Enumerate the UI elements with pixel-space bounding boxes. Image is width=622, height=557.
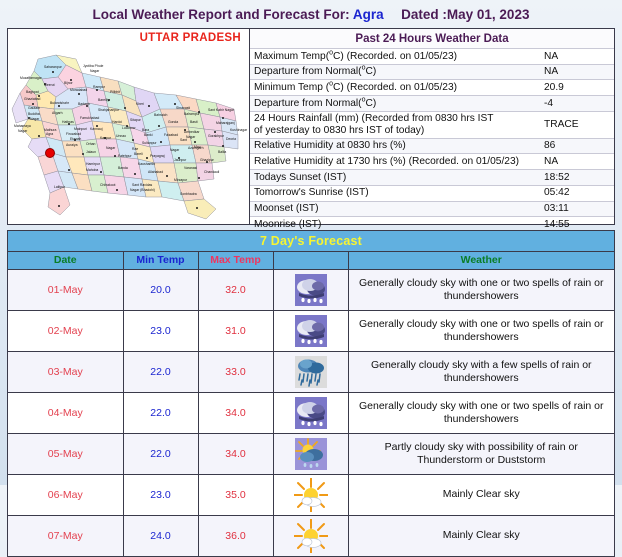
map-label: Rampur — [93, 86, 105, 89]
column-header-date: Date — [8, 252, 123, 270]
past-24-row: Departure from Normal(oC)-4 — [250, 96, 614, 112]
past-24-label: Departure from Normal(oC) — [250, 64, 532, 80]
map-state-label: UTTAR PRADESH — [140, 32, 241, 44]
map-label: Hathras — [62, 121, 74, 124]
forecast-min-temp: 22.0 — [123, 434, 198, 475]
map-label: Bareilly — [98, 99, 109, 102]
forecast-min-temp: 24.0 — [123, 516, 198, 557]
map-label: Orhan — [86, 143, 95, 146]
map-label: Firozabad — [66, 133, 81, 136]
map-label: Nagar — [18, 130, 27, 133]
map-label: Mainpuri — [74, 128, 87, 131]
forecast-min-temp: 20.0 — [123, 270, 198, 311]
forecast-row: 01-May20.032.0 Generally cloudy sky with… — [8, 270, 614, 311]
forecast-date: 06-May — [8, 475, 123, 516]
map-label: Jalaun — [86, 151, 96, 154]
past-24-row: Minimum Temp (oC) (Recorded. on 01/05/23… — [250, 80, 614, 96]
map-label: Aligarh — [52, 112, 63, 115]
state-map: UTTAR PRADESH — [8, 29, 250, 224]
map-label: Banda — [118, 167, 128, 170]
map-label: Sultanpur — [142, 142, 157, 145]
map-label: Basti — [190, 121, 198, 124]
forecast-description: Partly cloudy sky with possibility of ra… — [348, 434, 614, 475]
map-label: Baghpat — [26, 91, 39, 94]
map-label: Ghaziabad — [24, 98, 40, 101]
agra-location-marker — [46, 149, 54, 157]
map-label: Kannauj — [90, 128, 102, 131]
past-24-row: Relative Humidity at 1730 hrs (%) (Recor… — [250, 154, 614, 170]
map-label: Nagar — [106, 147, 115, 150]
map-label: Kaushambi — [138, 163, 155, 166]
map-label: Kushinagar — [230, 129, 247, 132]
forecast-description: Generally cloudy sky with one or two spe… — [348, 393, 614, 434]
map-label: Unnao — [116, 135, 126, 138]
forecast-description: Generally cloudy sky with a few spells o… — [348, 352, 614, 393]
map-label: Saharanpur — [44, 66, 62, 69]
forecast-row: 02-May23.031.0 Generally cloudy sky with… — [8, 311, 614, 352]
forecast-min-temp: 23.0 — [123, 475, 198, 516]
map-label: Gonda — [168, 121, 178, 124]
past-24-value: NA — [532, 154, 614, 170]
rain-cloud-icon — [273, 311, 348, 352]
past-24-value: NA — [532, 49, 614, 65]
forecast-description: Generally cloudy sky with one or two spe… — [348, 270, 614, 311]
map-label: Rae — [132, 148, 138, 151]
map-label: Agra — [46, 133, 53, 136]
map-label: Etawah — [70, 138, 81, 141]
forecast-min-temp: 22.0 — [123, 352, 198, 393]
map-label: Nagar (Bhadohi) — [130, 189, 155, 192]
forecast-max-temp: 35.0 — [198, 475, 273, 516]
forecast-description: Mainly Clear sky — [348, 475, 614, 516]
heavy-rain-icon — [273, 352, 348, 393]
past-24-label: Tomorrow's Sunrise (IST) — [250, 185, 532, 201]
sun-cloud-icon — [273, 516, 348, 557]
column-header-max-temp: Max Temp — [198, 252, 273, 270]
past-24-value: 05:42 — [532, 185, 614, 201]
map-label: Sonbhadra — [180, 193, 197, 196]
column-header-min-temp: Min Temp — [123, 252, 198, 270]
map-label: Nagar — [90, 70, 99, 73]
map-label: Sant Kabir Nagar — [208, 109, 234, 112]
map-label: Prayagraj — [150, 155, 165, 158]
map-label: Buddha — [28, 113, 40, 116]
map-label: Jaunpur — [174, 159, 186, 162]
map-label: Ghazipur — [200, 159, 214, 162]
map-label: Mahamaya — [14, 125, 31, 128]
map-label: Deoria — [226, 138, 236, 141]
past-24-row: Tomorrow's Sunrise (IST)05:42 — [250, 185, 614, 201]
past-24-row: Todays Sunset (IST)18:52 — [250, 170, 614, 186]
map-label: Hamirpur — [86, 163, 100, 166]
map-label: Faizabad — [164, 134, 178, 137]
column-header-icon — [273, 252, 348, 270]
past-24-label: Minimum Temp (oC) (Recorded. on 01/05/23… — [250, 80, 532, 96]
map-label: Bulandshahr — [50, 102, 69, 105]
past-24-value: TRACE — [532, 111, 614, 138]
past-24-value: -4 — [532, 96, 614, 112]
past-24-row: Departure from Normal(oC)NA — [250, 64, 614, 80]
forecast-header-row: Date Min Temp Max Temp Weather — [8, 252, 614, 270]
past-24-row: Maximum Temp(oC) (Recorded. on 01/05/23)… — [250, 49, 614, 65]
map-label: Ballia — [218, 151, 226, 154]
map-label: Ambedkar — [184, 131, 199, 134]
forecast-date: 01-May — [8, 270, 123, 311]
forecast-row: 04-May22.034.0 Generally cloudy sky with… — [8, 393, 614, 434]
map-label: Nagar — [186, 136, 195, 139]
page-title: Local Weather Report and Forecast For: A… — [0, 0, 622, 22]
map-label: Farrukhabad — [80, 117, 99, 120]
past-24-label: Todays Sunset (IST) — [250, 170, 532, 186]
past-24-heading: Past 24 Hours Weather Data — [250, 29, 614, 48]
forecast-date: 07-May — [8, 516, 123, 557]
map-label: Varanasi — [184, 167, 197, 170]
map-label: Fatehpur — [118, 155, 132, 158]
rain-cloud-icon — [273, 393, 348, 434]
rain-cloud-icon — [273, 270, 348, 311]
map-label: Moradabad — [70, 89, 87, 92]
forecast-description: Mainly Clear sky — [348, 516, 614, 557]
past-24-row: Moonset (IST)03:11 — [250, 201, 614, 217]
map-label: Auraiya — [66, 144, 78, 147]
map-label: Maharajganj — [216, 122, 235, 125]
top-panel: UTTAR PRADESH — [7, 28, 615, 225]
map-label: Azamgarh — [188, 147, 203, 150]
map-label: Sitapur — [130, 119, 141, 122]
map-label: Bara — [142, 129, 149, 132]
forecast-max-temp: 34.0 — [198, 434, 273, 475]
map-label: Muzaffarnagar — [20, 77, 42, 80]
forecast-date: 02-May — [8, 311, 123, 352]
page-title-city: Agra — [353, 7, 384, 22]
past-24-value: 86 — [532, 138, 614, 154]
column-header-weather: Weather — [348, 252, 614, 270]
forecast-date: 03-May — [8, 352, 123, 393]
past-24-value: 20.9 — [532, 80, 614, 96]
map-label: Kheri — [136, 103, 144, 106]
past-24-label: 24 Hours Rainfall (mm) (Recorded from 08… — [250, 111, 532, 138]
map-label: Shravasti — [176, 107, 190, 110]
weather-report-page: Local Weather Report and Forecast For: A… — [0, 0, 622, 485]
forecast-min-temp: 23.0 — [123, 311, 198, 352]
forecast-max-temp: 33.0 — [198, 352, 273, 393]
past-24-hours-panel: Past 24 Hours Weather Data Maximum Temp(… — [250, 29, 614, 224]
past-24-value: 18:52 — [532, 170, 614, 186]
forecast-max-temp: 32.0 — [198, 270, 273, 311]
map-label: Pilibhit — [110, 91, 120, 94]
map-label: Badaun — [78, 103, 90, 106]
map-label: Allahabad — [148, 171, 163, 174]
forecast-max-temp: 36.0 — [198, 516, 273, 557]
forecast-row: 07-May24.036.0 Mainly Clear sky — [8, 516, 614, 557]
map-label: Chitrakoot — [100, 184, 115, 187]
sun-cloud-rain-icon — [273, 434, 348, 475]
page-title-main: Local Weather Report and Forecast For: — [93, 7, 350, 22]
map-label: Mahoba — [86, 169, 98, 172]
forecast-row: 06-May23.035.0 Mainly Clear sky — [8, 475, 614, 516]
map-label: Sant Ravidas — [132, 184, 152, 187]
past-24-label: Moonset (IST) — [250, 201, 532, 217]
past-24-label: Relative Humidity at 0830 hrs (%) — [250, 138, 532, 154]
map-label: Mirzapur — [174, 179, 187, 182]
map-label: Bahraich — [154, 114, 167, 117]
past-24-value: NA — [532, 64, 614, 80]
forecast-min-temp: 22.0 — [123, 393, 198, 434]
past-24-row: 24 Hours Rainfall (mm) (Recorded from 08… — [250, 111, 614, 138]
map-label: Sant — [180, 139, 187, 142]
forecast-max-temp: 31.0 — [198, 311, 273, 352]
past-24-label: Relative Humidity at 1730 hrs (%) (Recor… — [250, 154, 532, 170]
past-24-value: 03:11 — [532, 201, 614, 217]
map-label: Lalitpur — [54, 186, 65, 189]
sun-cloud-icon — [273, 475, 348, 516]
forecast-row: 03-May22.033.0 Generally cloudy sky with… — [8, 352, 614, 393]
map-label: Nagar — [170, 149, 179, 152]
map-label: Shahjahanpur — [98, 109, 119, 112]
forecast-date: 04-May — [8, 393, 123, 434]
map-label: Chandauli — [204, 171, 219, 174]
forecast-date: 05-May — [8, 434, 123, 475]
map-label: Banki — [144, 134, 152, 137]
map-label: Lucknow — [122, 127, 135, 130]
forecast-row: 05-May22.034.0 Partly cloudy sky with po… — [8, 434, 614, 475]
forecast-table: Date Min Temp Max Temp Weather 01-May20.… — [8, 252, 614, 556]
map-label: Kanpur — [100, 137, 111, 140]
forecast-description: Generally cloudy sky with one or two spe… — [348, 311, 614, 352]
forecast-max-temp: 34.0 — [198, 393, 273, 434]
past-24-label: Maximum Temp(oC) (Recorded. on 01/05/23) — [250, 49, 532, 65]
map-label: Bareli — [134, 153, 143, 156]
map-label: Gautam — [28, 107, 40, 110]
past-24-row: Relative Humidity at 0830 hrs (%)86 — [250, 138, 614, 154]
map-label: Nagar — [30, 118, 39, 121]
page-title-date: Dated :May 01, 2023 — [401, 7, 529, 22]
map-label: Meerut — [44, 84, 55, 87]
past-24-table: Maximum Temp(oC) (Recorded. on 01/05/23)… — [250, 48, 614, 232]
map-label: Bijnor — [64, 82, 73, 85]
forecast-panel: 7 Day's Forecast Date Min Temp Max Temp … — [7, 230, 615, 557]
map-label: Jyotiba Phule — [83, 65, 103, 68]
map-label: Gorakhpur — [208, 135, 224, 138]
forecast-title: 7 Day's Forecast — [8, 231, 614, 252]
map-label: Balrampur — [184, 113, 200, 116]
past-24-label: Departure from Normal(oC) — [250, 96, 532, 112]
map-label: Hardoi — [112, 121, 122, 124]
